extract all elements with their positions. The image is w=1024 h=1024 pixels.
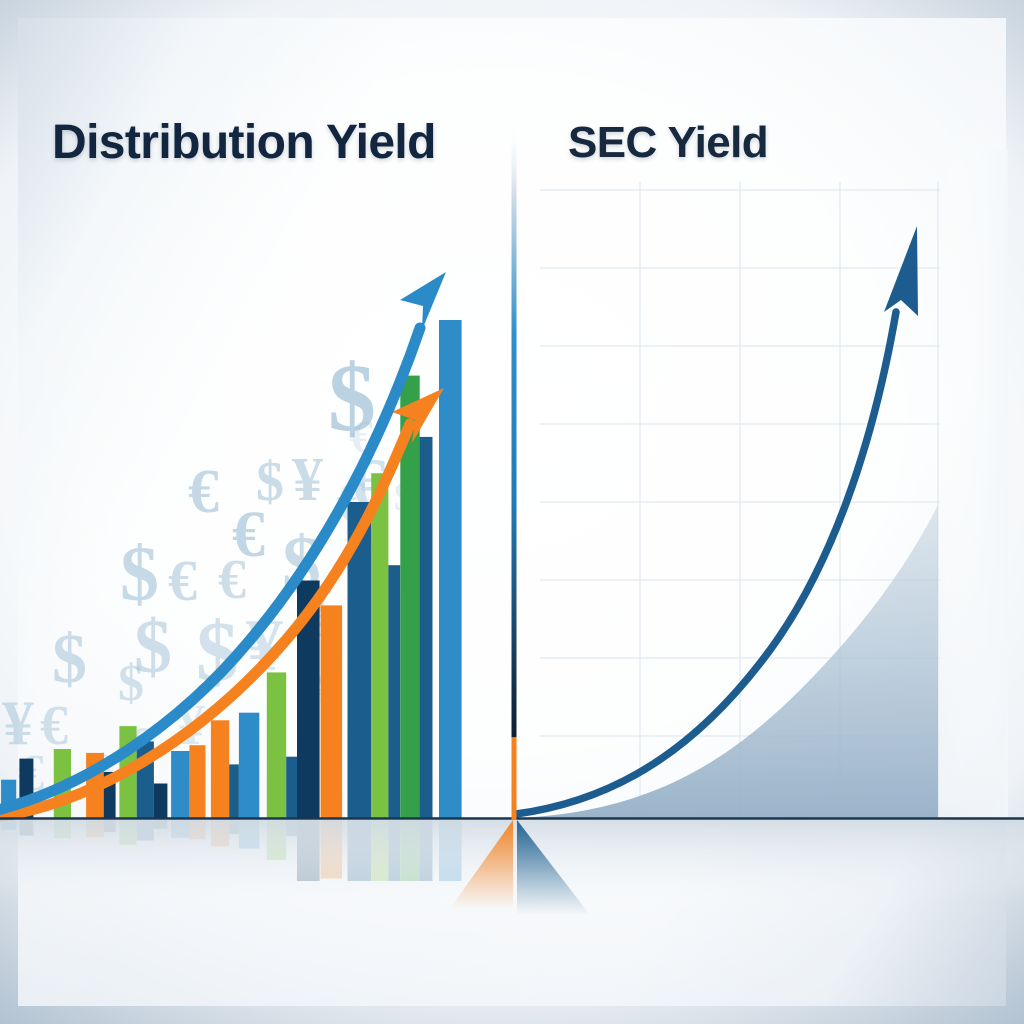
bar-15 [286,757,297,818]
right-panel-title: SEC Yield [568,118,768,168]
bar-17 [321,605,343,818]
bar-14 [267,672,286,818]
currency-symbol-dollar: $ [134,605,172,689]
left-panel-title: Distribution Yield [52,115,436,170]
currency-symbol-yen: ¥ [292,446,323,514]
currency-symbol-dollar: $ [52,621,87,698]
bar-19 [371,473,388,818]
sec-yield-area [518,505,938,818]
sec-yield-arrowhead [884,226,918,316]
bar-9 [171,751,189,818]
bar-20 [388,565,400,818]
infographic-canvas: $$€€¥€¥$€€$€$$$$¥¥¥€€€$¥¥¥$€ Distributio… [0,0,1024,1024]
bar-12 [229,764,239,818]
bar-22 [420,437,433,818]
right-wall-highlight [938,150,1008,818]
currency-symbol-euro: € [188,458,219,526]
bar-11 [211,720,229,818]
bar-23 [439,320,462,818]
currency-symbol-euro: € [168,548,197,613]
currency-symbol-euro: € [218,549,246,611]
panel-divider [512,126,517,820]
currency-symbol-euro: € [40,695,68,757]
bar-13 [239,713,259,818]
currency-symbol-dollar: $ [120,530,159,617]
bar-8 [154,784,168,819]
bar-10 [189,745,205,818]
